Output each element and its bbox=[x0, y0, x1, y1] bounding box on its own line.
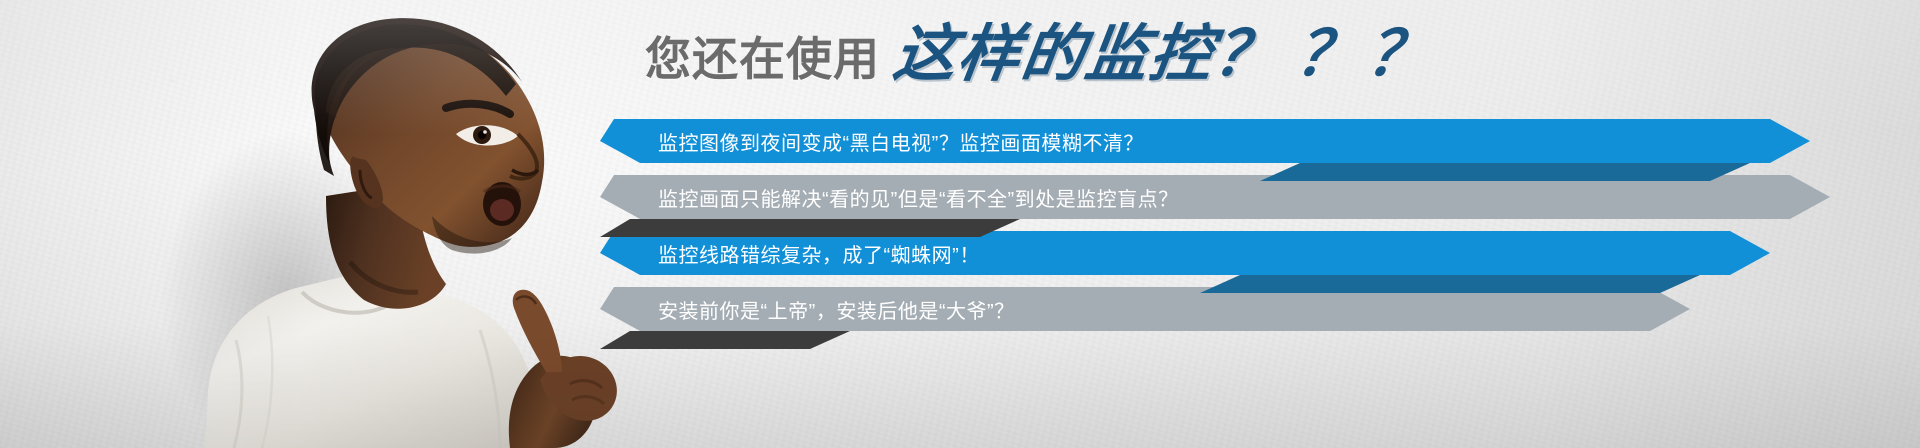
headline-accent-text: 这样的监控？ bbox=[890, 24, 1283, 86]
feature-row-text: 监控线路错综复杂，成了“蜘蛛网”！ bbox=[658, 231, 980, 275]
feature-row[interactable]: 安装前你是“上帝”，安装后他是“大爷”？ bbox=[600, 287, 1920, 331]
headline-question-marks: ？？ bbox=[1288, 24, 1443, 86]
row-tail-shadow bbox=[600, 331, 1920, 349]
person-photo bbox=[150, 0, 670, 448]
headline-lead-text: 您还在使用 bbox=[645, 36, 880, 86]
feature-row-list: 监控图像到夜间变成“黑白电视”？监控画面模糊不清？ 监控画面只能解决“看的见”但… bbox=[600, 119, 1920, 343]
feature-row[interactable]: 监控线路错综复杂，成了“蜘蛛网”！ bbox=[600, 231, 1920, 275]
promo-banner: 您还在使用 这样的监控？ ？？ 监控图像到夜间变成“黑白电视”？监控画面模糊不清… bbox=[0, 0, 1920, 448]
surprised-man-illustration bbox=[150, 0, 670, 448]
feature-row-text: 监控画面只能解决“看的见”但是“看不全”到处是监控盲点？ bbox=[658, 175, 1179, 219]
feature-row[interactable]: 监控图像到夜间变成“黑白电视”？监控画面模糊不清？ bbox=[600, 119, 1920, 163]
headline: 您还在使用 这样的监控？ ？？ bbox=[645, 24, 1438, 86]
feature-row-text: 监控图像到夜间变成“黑白电视”？监控画面模糊不清？ bbox=[658, 119, 1144, 163]
feature-row-text: 安装前你是“上帝”，安装后他是“大爷”？ bbox=[658, 287, 1015, 331]
feature-row[interactable]: 监控画面只能解决“看的见”但是“看不全”到处是监控盲点？ bbox=[600, 175, 1920, 219]
